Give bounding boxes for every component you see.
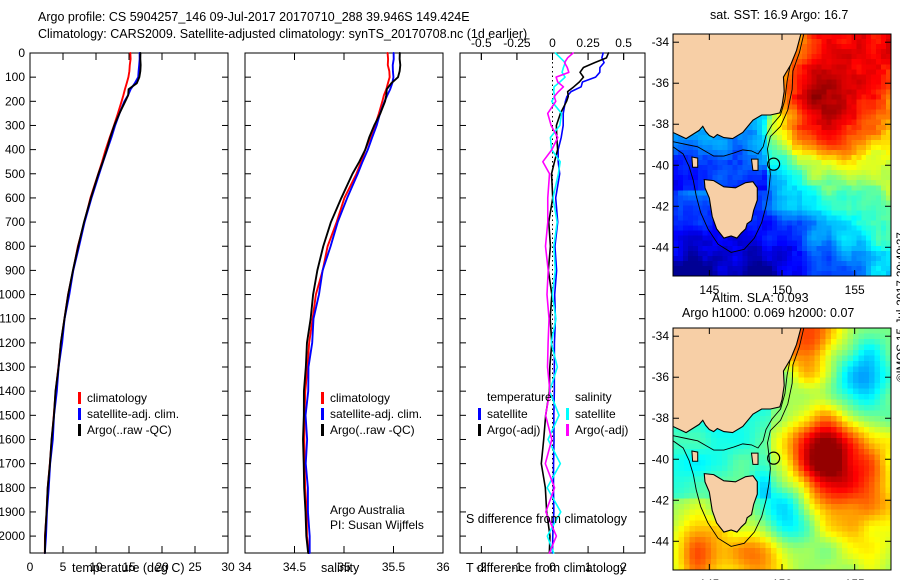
map-cell: [826, 466, 832, 472]
map-cell: [728, 559, 734, 565]
map-cell: [846, 39, 852, 45]
map-cell: [815, 559, 821, 565]
map-cell: [826, 378, 832, 384]
map-cell: [678, 521, 684, 527]
map-cell: [876, 195, 882, 201]
map-cell: [856, 54, 862, 60]
map-cell: [807, 140, 813, 146]
map-cell: [683, 266, 689, 272]
map-cell: [853, 422, 859, 428]
map-cell: [841, 84, 847, 90]
map-cell: [793, 515, 799, 521]
map-cell: [807, 160, 813, 166]
map-cell: [871, 120, 877, 126]
map-cell: [846, 130, 852, 136]
map-cell: [772, 170, 778, 176]
map-cell: [787, 195, 793, 201]
map-cell: [853, 378, 859, 384]
map-cell: [847, 526, 853, 532]
map-cell: [766, 504, 772, 510]
map-cell: [861, 210, 867, 216]
map-cell: [832, 256, 838, 262]
map-cell: [678, 455, 684, 461]
map-cell: [817, 100, 823, 106]
map-cell: [875, 378, 881, 384]
map-cell: [717, 548, 723, 554]
map-cell: [718, 175, 724, 181]
map-cell: [842, 394, 848, 400]
map-cell: [851, 251, 857, 257]
map-cell: [812, 89, 818, 95]
map-cell: [766, 471, 772, 477]
map-cell: [866, 226, 872, 232]
map-cell: [869, 510, 875, 516]
map-cell: [706, 455, 712, 461]
map-cell: [822, 130, 828, 136]
map-cell: [793, 378, 799, 384]
map-cell: [817, 246, 823, 252]
map-cell: [767, 221, 773, 227]
map-cell: [881, 89, 887, 95]
map-cell: [782, 210, 788, 216]
map-cell: [793, 455, 799, 461]
map-cell: [864, 460, 870, 466]
map-cell: [846, 69, 852, 75]
map-cell: [713, 150, 719, 156]
map-cell: [826, 339, 832, 345]
map-cell: [698, 221, 704, 227]
map-cell: [703, 170, 709, 176]
map-cell: [880, 350, 886, 356]
map-cell: [792, 205, 798, 211]
map-cell: [792, 160, 798, 166]
map-cell: [831, 400, 837, 406]
map-cell: [837, 350, 843, 356]
map-cell: [820, 394, 826, 400]
map-cell: [869, 460, 875, 466]
map-cell: [802, 170, 808, 176]
map-cell: [678, 515, 684, 521]
map-cell: [693, 231, 699, 237]
map-cell: [832, 54, 838, 60]
map-cell: [817, 251, 823, 257]
map-cell: [797, 64, 803, 70]
map-cell: [815, 422, 821, 428]
map-cell: [787, 175, 793, 181]
map-cell: [762, 236, 768, 242]
map-cell: [757, 241, 763, 247]
map-cell: [782, 482, 788, 488]
map-cell: [809, 471, 815, 477]
map-cell: [815, 400, 821, 406]
map-cell: [875, 548, 881, 554]
map-cell: [871, 110, 877, 116]
map-cell: [802, 195, 808, 201]
map-cell: [793, 367, 799, 373]
map-cell: [847, 427, 853, 433]
map-cell: [698, 261, 704, 267]
map-cell: [673, 559, 679, 565]
map-cell: [752, 221, 758, 227]
map-cell: [853, 449, 859, 455]
map-cell: [703, 165, 709, 171]
map-cell: [837, 74, 843, 80]
map-cell: [777, 205, 783, 211]
map-cell: [881, 130, 887, 136]
map-cell: [837, 155, 843, 161]
map-cell: [797, 160, 803, 166]
map-cell: [777, 488, 783, 494]
map-cell: [846, 190, 852, 196]
map-cell: [762, 165, 768, 171]
map-cell: [861, 150, 867, 156]
map-cell: [713, 165, 719, 171]
map-cell: [777, 236, 783, 242]
map-cell: [807, 44, 813, 50]
map-cell: [820, 427, 826, 433]
map-cell: [858, 361, 864, 367]
map-cell: [866, 64, 872, 70]
map-cell: [689, 526, 695, 532]
map-cell: [851, 64, 857, 70]
map-cell: [837, 411, 843, 417]
legend-label-climatology: climatology: [87, 391, 147, 405]
map-cell: [842, 477, 848, 483]
map-cell: [851, 44, 857, 50]
map-cell: [846, 125, 852, 131]
map-cell: [853, 482, 859, 488]
map-cell: [837, 39, 843, 45]
map-cell: [858, 493, 864, 499]
map-cell: [684, 526, 690, 532]
map-cell: [851, 34, 857, 40]
map-cell: [871, 246, 877, 252]
map-cell: [856, 200, 862, 206]
map-cell: [678, 200, 684, 206]
map-cell: [807, 190, 813, 196]
map-cell: [853, 400, 859, 406]
map-cell: [858, 521, 864, 527]
map-cell: [782, 537, 788, 543]
map-cell: [760, 532, 766, 538]
map-cell: [827, 105, 833, 111]
map-cell: [798, 493, 804, 499]
map-cell: [817, 145, 823, 151]
map-cell: [723, 266, 729, 272]
map-cell: [793, 488, 799, 494]
map-cell: [827, 140, 833, 146]
map-cell: [797, 200, 803, 206]
map-cell: [871, 150, 877, 156]
map-cell: [846, 150, 852, 156]
map-cell: [777, 444, 783, 450]
map-cell: [822, 39, 828, 45]
map-cell: [802, 180, 808, 186]
map-cell: [831, 438, 837, 444]
map-cell: [853, 455, 859, 461]
map-cell: [688, 261, 694, 267]
map-cell: [673, 231, 679, 237]
map-cell: [742, 135, 748, 141]
map-cell: [703, 261, 709, 267]
map-cell: [822, 165, 828, 171]
map-cell: [744, 526, 750, 532]
map-cell: [812, 69, 818, 75]
map-cell: [864, 504, 870, 510]
map-cell: [858, 372, 864, 378]
x-tick-top-label: -0.25: [503, 36, 531, 50]
map-cell: [762, 125, 768, 131]
map-cell: [760, 471, 766, 477]
map-cell: [797, 256, 803, 262]
map-cell: [792, 115, 798, 121]
map-cell: [876, 125, 882, 131]
map-cell: [787, 383, 793, 389]
map-cell: [713, 140, 719, 146]
map-cell: [717, 466, 723, 472]
map-cell: [772, 246, 778, 252]
map-cell: [869, 554, 875, 560]
map-cell: [722, 559, 728, 565]
map-cell: [880, 471, 886, 477]
map-cell: [706, 510, 712, 516]
map-cell: [837, 59, 843, 65]
map-cell: [807, 105, 813, 111]
map-cell: [822, 135, 828, 141]
map-cell: [792, 226, 798, 232]
map-cell: [875, 394, 881, 400]
map-cell: [723, 160, 729, 166]
map-cell: [798, 515, 804, 521]
map-cell: [832, 95, 838, 101]
map-cell: [777, 140, 783, 146]
map-cell: [772, 190, 778, 196]
map-cell: [717, 471, 723, 477]
map-cell: [858, 339, 864, 345]
legend-swatch-temperature-satellite: [478, 408, 481, 420]
map-cell: [831, 405, 837, 411]
map-cell: [837, 105, 843, 111]
map-cell: [752, 130, 758, 136]
map-cell: [804, 361, 810, 367]
map-cell: [755, 554, 761, 560]
map-cell: [708, 241, 714, 247]
map-cell: [771, 499, 777, 505]
map-cell: [826, 422, 832, 428]
map-cell: [787, 444, 793, 450]
map-cell: [841, 115, 847, 121]
map-cell: [864, 356, 870, 362]
map-cell: [856, 44, 862, 50]
map-cell: [762, 221, 768, 227]
map-cell: [755, 433, 761, 439]
map-cell: [706, 554, 712, 560]
map-cell: [797, 125, 803, 131]
legend-swatch-temperature-argo: [478, 424, 481, 436]
map-cell: [831, 411, 837, 417]
map-cell: [766, 411, 772, 417]
map-cell: [718, 150, 724, 156]
map-cell: [826, 433, 832, 439]
map-cell: [804, 537, 810, 543]
map-cell: [684, 521, 690, 527]
map-cell: [812, 190, 818, 196]
legend-swatch-satellite-adj: [78, 408, 81, 420]
map-cell: [792, 266, 798, 272]
legend-label-satellite-adj: satellite-adj. clim.: [87, 407, 179, 421]
map-cell: [827, 84, 833, 90]
map-cell: [837, 226, 843, 232]
map-cell: [853, 493, 859, 499]
map-cell: [831, 521, 837, 527]
map-cell: [856, 180, 862, 186]
y-tick-label: 1000: [0, 288, 25, 302]
map-cell: [856, 236, 862, 242]
y-tick-label: 1300: [0, 360, 25, 374]
map-cell: [820, 334, 826, 340]
map-cell: [856, 115, 862, 121]
map-cell: [777, 411, 783, 417]
map-cell: [822, 200, 828, 206]
map-cell: [777, 438, 783, 444]
map-cell: [673, 543, 679, 549]
map-cell: [815, 510, 821, 516]
map-cell: [766, 532, 772, 538]
map-cell: [869, 449, 875, 455]
map-cell: [866, 69, 872, 75]
landmass-king-island: [692, 157, 698, 167]
map-cell: [864, 350, 870, 356]
map-cell: [747, 261, 753, 267]
map-cell: [728, 180, 734, 186]
map-cell: [875, 477, 881, 483]
map-cell: [837, 488, 843, 494]
map-cell: [673, 256, 679, 262]
map-cell: [837, 231, 843, 237]
map-cell: [817, 125, 823, 131]
map-cell: [880, 400, 886, 406]
map-cell: [822, 241, 828, 247]
map-cell: [827, 110, 833, 116]
map-cell: [820, 400, 826, 406]
map-cell: [777, 482, 783, 488]
map-cell: [797, 236, 803, 242]
map-cell: [755, 466, 761, 472]
map-cell: [782, 246, 788, 252]
map-cell: [742, 251, 748, 257]
map-cell: [832, 180, 838, 186]
map-cell: [846, 115, 852, 121]
map-cell: [831, 466, 837, 472]
map-cell: [831, 356, 837, 362]
map-cell: [853, 466, 859, 472]
map-cell: [861, 216, 867, 222]
map-cell: [837, 246, 843, 252]
map-cell: [777, 170, 783, 176]
map-cell: [880, 345, 886, 351]
map-cell: [861, 145, 867, 151]
map-cell: [837, 356, 843, 362]
map-cell: [858, 460, 864, 466]
map-cell: [793, 411, 799, 417]
map-cell: [804, 482, 810, 488]
map-cell: [798, 499, 804, 505]
map-cell: [858, 411, 864, 417]
map-cell: [826, 504, 832, 510]
map-cell: [851, 125, 857, 131]
map-cell: [728, 537, 734, 543]
map-cell: [815, 493, 821, 499]
map-cell: [842, 427, 848, 433]
map-cell: [812, 236, 818, 242]
map-cell: [880, 488, 886, 494]
map-cell: [793, 559, 799, 565]
map-cell: [837, 180, 843, 186]
map-cell: [869, 433, 875, 439]
map-cell: [841, 100, 847, 106]
map-cell: [841, 221, 847, 227]
map-cell: [826, 499, 832, 505]
map-cell: [827, 170, 833, 176]
map-cell: [858, 378, 864, 384]
map-cell: [858, 400, 864, 406]
map-cell: [807, 125, 813, 131]
map-cell: [683, 216, 689, 222]
map-cell: [755, 537, 761, 543]
map-cell: [841, 145, 847, 151]
map-cell: [841, 216, 847, 222]
map-cell: [792, 140, 798, 146]
map-cell: [793, 504, 799, 510]
map-cell: [837, 537, 843, 543]
map-cell: [881, 266, 887, 272]
map-cell: [861, 266, 867, 272]
map-cell: [876, 261, 882, 267]
map-cell: [777, 210, 783, 216]
map-cell: [787, 79, 793, 85]
map-cell: [822, 170, 828, 176]
y-tick-label: 500: [5, 167, 25, 181]
map-cell: [847, 328, 853, 334]
map-cell: [804, 356, 810, 362]
map-cell: [875, 383, 881, 389]
map-cell: [866, 79, 872, 85]
map-cell: [876, 135, 882, 141]
map-cell: [787, 405, 793, 411]
map-cell: [762, 175, 768, 181]
map-cell: [826, 460, 832, 466]
map-cell: [832, 64, 838, 70]
map-cell: [812, 170, 818, 176]
map-cell: [853, 416, 859, 422]
map-cell: [733, 438, 739, 444]
map-cell: [876, 100, 882, 106]
map-cell: [831, 328, 837, 334]
map-cell: [837, 499, 843, 505]
map-cell: [864, 334, 870, 340]
map-cell: [869, 334, 875, 340]
map-cell: [762, 155, 768, 161]
map-cell: [820, 515, 826, 521]
map-cell: [861, 160, 867, 166]
map-cell: [802, 205, 808, 211]
map-cell: [807, 150, 813, 156]
map-cell: [822, 180, 828, 186]
map-cell: [856, 246, 862, 252]
map-cell: [737, 170, 743, 176]
map-cell: [832, 79, 838, 85]
map-cell: [861, 221, 867, 227]
